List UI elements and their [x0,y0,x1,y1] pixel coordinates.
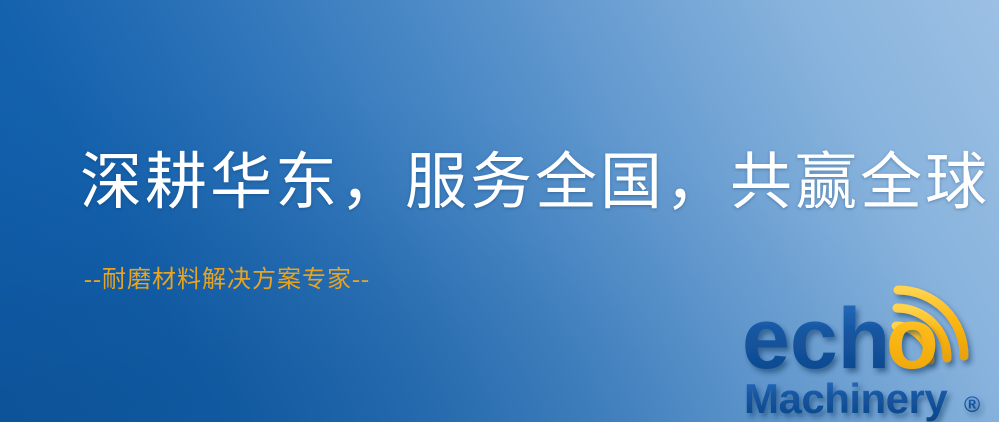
banner-subtitle: --耐磨材料解决方案专家-- [84,268,370,292]
banner-headline: 深耕华东，服务全国，共赢全球 [80,152,990,214]
echo-machinery-logo[interactable]: ech o Machinery ® [742,296,999,422]
logo-tagline: Machinery [744,375,948,422]
hero-banner: 深耕华东，服务全国，共赢全球 --耐磨材料解决方案专家-- [0,0,999,422]
logo-wordmark-o: o [886,291,939,387]
registered-trademark-icon: ® [964,392,980,417]
logo-wordmark-ech: ech [742,291,890,387]
